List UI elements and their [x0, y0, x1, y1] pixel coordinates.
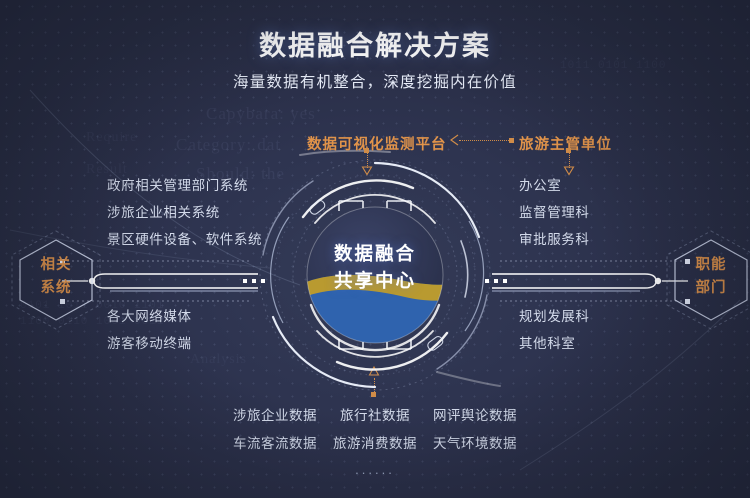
data-fusion-core[interactable]: 数据融合 共享中心	[255, 155, 495, 395]
infographic-canvas: Capybara: yes Category: dat Should: the …	[0, 0, 750, 498]
data-source-item: 涉旅企业数据	[225, 402, 325, 430]
data-sources-ellipsis: ......	[0, 462, 750, 477]
hexagon-right-label: 职能 部门	[663, 254, 750, 300]
data-source-item: 旅行社数据	[325, 402, 425, 430]
data-source-item: 车流客流数据	[225, 430, 325, 458]
data-sources-grid: 涉旅企业数据 旅行社数据 网评舆论数据 车流客流数据 旅游消费数据 天气环境数据	[225, 402, 525, 458]
list-item: 各大网络媒体	[107, 303, 192, 330]
data-source-item: 网评舆论数据	[425, 402, 525, 430]
hexagon-left-label: 相关 系统	[8, 254, 104, 300]
list-item: 游客移动终端	[107, 330, 192, 357]
list-item: 涉旅企业相关系统	[107, 199, 262, 226]
list-item: 规划发展科	[519, 303, 590, 330]
list-item: 政府相关管理部门系统	[107, 172, 262, 199]
hexagon-related-systems[interactable]: 相关 系统	[8, 228, 104, 332]
list-item: 审批服务科	[519, 226, 590, 253]
list-right-departments-bottom: 规划发展科 其他科室	[519, 303, 590, 357]
core-rings-icon	[255, 155, 495, 395]
list-right-departments-top: 办公室 监督管理科 审批服务科	[519, 172, 590, 253]
hexagon-functional-departments[interactable]: 职能 部门	[663, 228, 750, 332]
data-source-item: 天气环境数据	[425, 430, 525, 458]
list-item: 景区硬件设备、软件系统	[107, 226, 262, 253]
list-item: 其他科室	[519, 330, 590, 357]
data-source-item: 旅游消费数据	[325, 430, 425, 458]
list-left-systems-top: 政府相关管理部门系统 涉旅企业相关系统 景区硬件设备、软件系统	[107, 172, 262, 253]
list-item: 监督管理科	[519, 199, 590, 226]
list-left-systems-bottom: 各大网络媒体 游客移动终端	[107, 303, 192, 357]
list-item: 办公室	[519, 172, 590, 199]
